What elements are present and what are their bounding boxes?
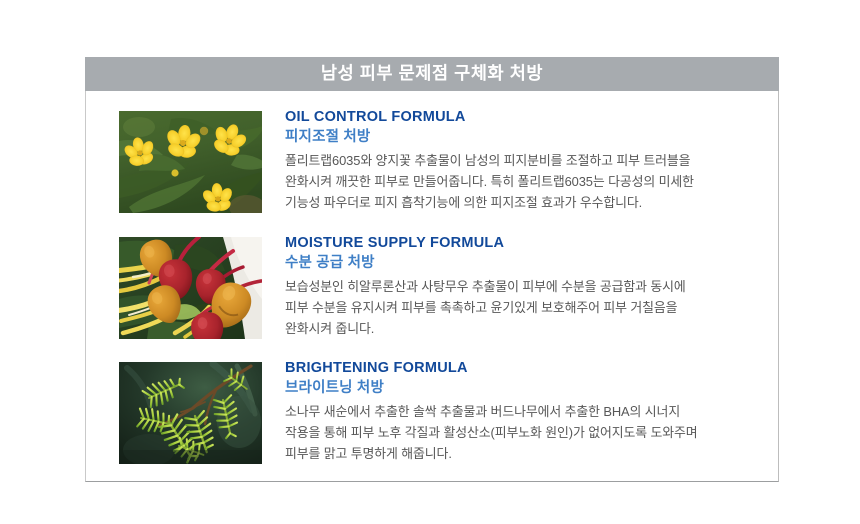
section-text-block: OIL CONTROL FORMULA 피지조절 처방 폴리트랩6035와 양지… [285, 108, 763, 213]
beetroot-sugar-beet-photo [119, 237, 262, 339]
formula-heading-ko: 피지조절 처방 [285, 128, 763, 147]
section-text-block: MOISTURE SUPPLY FORMULA 수분 공급 처방 보습성분인 히… [285, 234, 763, 339]
section-text-block: BRIGHTENING FORMULA 브라이트닝 처방 소나무 새순에서 추출… [285, 359, 763, 464]
ingredient-formula-panel: 남성 피부 문제점 구체화 처방 [85, 57, 779, 482]
page-root: 남성 피부 문제점 구체화 처방 [0, 0, 860, 524]
formula-heading-ko: 브라이트닝 처방 [285, 379, 763, 398]
panel-header: 남성 피부 문제점 구체화 처방 [85, 57, 779, 91]
formula-heading-en: OIL CONTROL FORMULA [285, 108, 763, 127]
formula-description: 폴리트랩6035와 양지꽃 추출물이 남성의 피지분비를 조절하고 피부 트러블… [285, 150, 763, 213]
formula-heading-ko: 수분 공급 처방 [285, 254, 763, 273]
formula-heading-en: BRIGHTENING FORMULA [285, 359, 763, 378]
yellow-cinquefoil-flowers-photo [119, 111, 262, 213]
formula-description: 보습성분인 히알루론산과 사탕무우 추출물이 피부에 수분을 공급함과 동시에 … [285, 276, 763, 339]
pine-shoots-photo [119, 362, 262, 464]
formula-description: 소나무 새순에서 추출한 솔싹 추출물과 버드나무에서 추출한 BHA의 시너지… [285, 401, 763, 464]
flower-photo-illustration [119, 111, 262, 213]
pine-photo-illustration [119, 362, 262, 464]
beet-photo-illustration [119, 237, 262, 339]
panel-body: OIL CONTROL FORMULA 피지조절 처방 폴리트랩6035와 양지… [85, 91, 779, 482]
formula-heading-en: MOISTURE SUPPLY FORMULA [285, 234, 763, 253]
page-title: 남성 피부 문제점 구체화 처방 [321, 65, 543, 83]
